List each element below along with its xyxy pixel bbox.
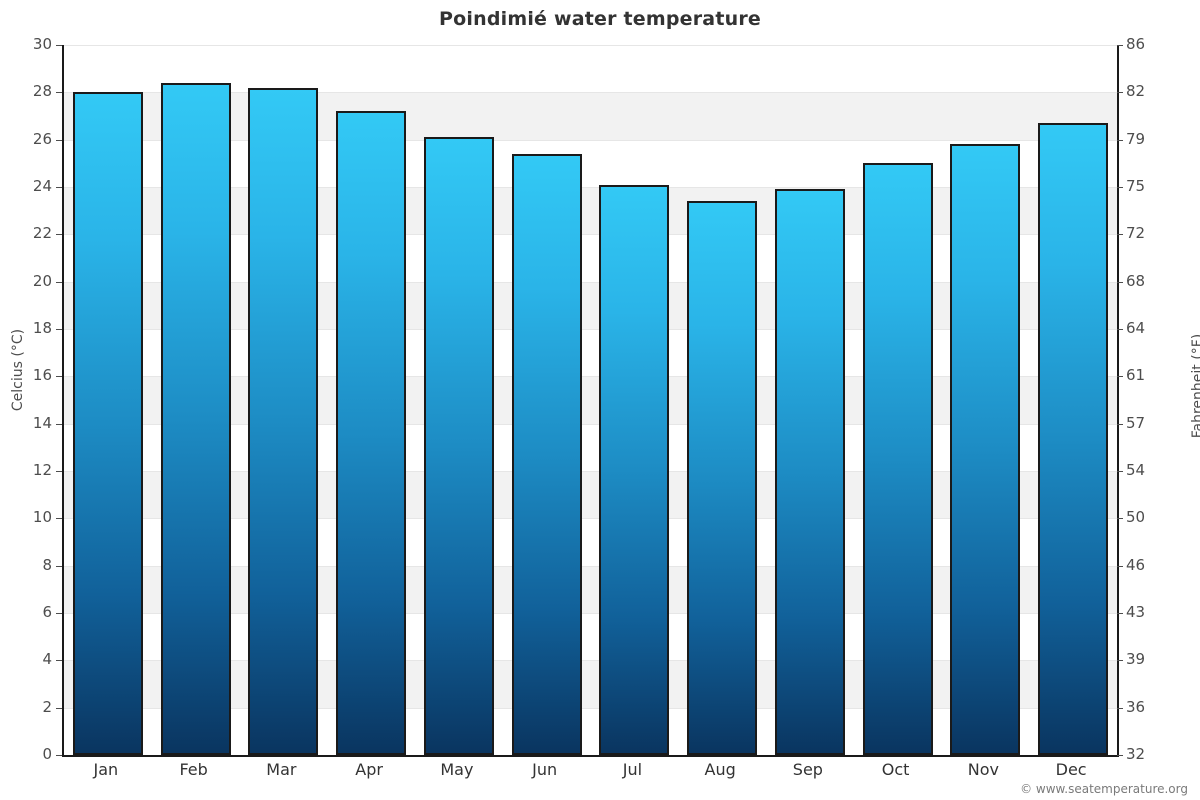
y-tick-mark-left [56,234,62,235]
y-tick-label-right: 86 [1126,37,1176,52]
y-tick-label-right: 82 [1126,84,1176,99]
y-tick-mark-right [1117,187,1123,188]
y-tick-label-right: 57 [1126,416,1176,431]
bar-may [424,137,494,755]
bar-jan [73,92,143,755]
y-tick-label-right: 43 [1126,605,1176,620]
x-tick-label-feb: Feb [150,762,238,778]
y-tick-label-right: 46 [1126,558,1176,573]
y-tick-label-left: 6 [12,605,52,620]
bar-oct [863,163,933,755]
y-tick-label-left: 30 [12,37,52,52]
y-tick-label-left: 10 [12,510,52,525]
bar-nov [950,144,1020,755]
y-tick-mark-right [1117,660,1123,661]
y-axis-right-title: Fahrenheit (°F) [1190,276,1200,496]
x-tick-label-sep: Sep [764,762,852,778]
x-tick-label-mar: Mar [238,762,326,778]
y-tick-label-right: 64 [1126,321,1176,336]
y-tick-label-right: 79 [1126,132,1176,147]
y-tick-mark-left [56,92,62,93]
x-tick-label-jul: Jul [589,762,677,778]
x-tick-label-jan: Jan [62,762,150,778]
y-tick-mark-right [1117,613,1123,614]
y-tick-label-left: 22 [12,226,52,241]
y-tick-mark-left [56,708,62,709]
y-tick-label-right: 72 [1126,226,1176,241]
y-tick-mark-right [1117,234,1123,235]
page-title: Poindimié water temperature [0,8,1200,30]
bar-sep [775,189,845,755]
y-tick-mark-right [1117,92,1123,93]
x-tick-label-aug: Aug [676,762,764,778]
x-tick-label-nov: Nov [940,762,1028,778]
y-tick-mark-right [1117,282,1123,283]
y-tick-label-right: 61 [1126,368,1176,383]
y-tick-mark-left [56,660,62,661]
x-tick-label-may: May [413,762,501,778]
y-tick-mark-left [56,140,62,141]
y-tick-mark-left [56,471,62,472]
y-tick-mark-left [56,566,62,567]
y-tick-label-right: 50 [1126,510,1176,525]
x-tick-label-apr: Apr [325,762,413,778]
y-tick-label-right: 54 [1126,463,1176,478]
x-tick-label-jun: Jun [501,762,589,778]
y-tick-mark-left [56,187,62,188]
y-tick-label-right: 68 [1126,274,1176,289]
bar-jul [599,185,669,755]
y-tick-label-left: 24 [12,179,52,194]
y-tick-mark-right [1117,329,1123,330]
y-tick-mark-right [1117,140,1123,141]
y-tick-label-left: 0 [12,747,52,762]
bar-aug [687,201,757,755]
y-tick-mark-left [56,376,62,377]
y-tick-mark-right [1117,471,1123,472]
y-tick-label-right: 32 [1126,747,1176,762]
y-tick-mark-right [1117,566,1123,567]
y-tick-label-left: 4 [12,652,52,667]
x-tick-label-dec: Dec [1027,762,1115,778]
x-tick-label-oct: Oct [852,762,940,778]
credit-text: © www.seatemperature.org [1020,782,1188,796]
y-tick-mark-left [56,424,62,425]
y-tick-mark-left [56,613,62,614]
y-tick-label-right: 36 [1126,700,1176,715]
bar-series [64,45,1117,755]
bar-dec [1038,123,1108,755]
y-tick-mark-left [56,518,62,519]
plot-area [62,45,1119,757]
y-tick-label-right: 39 [1126,652,1176,667]
y-tick-mark-left [56,755,62,756]
y-tick-label-left: 8 [12,558,52,573]
bar-feb [161,83,231,755]
bar-mar [248,88,318,755]
y-tick-mark-right [1117,424,1123,425]
y-tick-label-left: 2 [12,700,52,715]
y-tick-label-right: 75 [1126,179,1176,194]
bar-jun [512,154,582,755]
y-tick-mark-right [1117,518,1123,519]
y-tick-mark-right [1117,376,1123,377]
y-tick-label-left: 28 [12,84,52,99]
y-tick-mark-right [1117,45,1123,46]
y-tick-mark-left [56,282,62,283]
y-axis-left-title: Celcius (°C) [10,260,26,480]
y-tick-mark-left [56,45,62,46]
y-tick-mark-right [1117,708,1123,709]
y-tick-mark-right [1117,755,1123,756]
y-tick-mark-left [56,329,62,330]
y-tick-label-left: 26 [12,132,52,147]
bar-apr [336,111,406,755]
